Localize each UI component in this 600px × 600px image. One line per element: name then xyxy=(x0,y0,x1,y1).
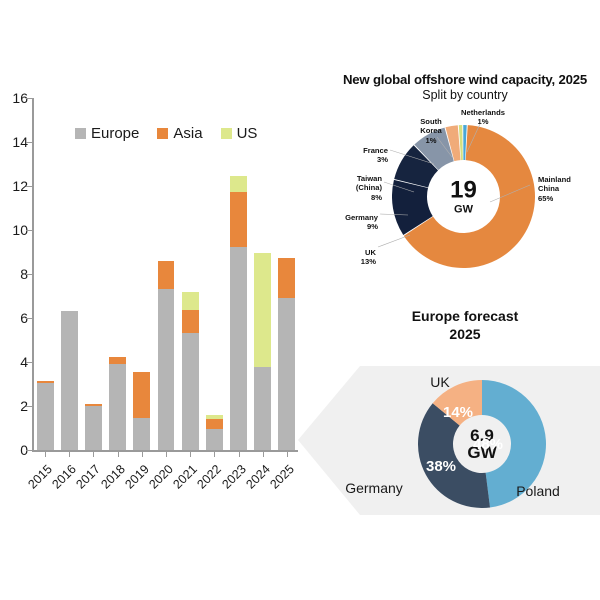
leader-line xyxy=(390,150,434,164)
bar-column-2018[interactable] xyxy=(109,357,126,450)
y-axis-tick-label: 14 xyxy=(2,134,28,150)
bar-segment-asia-2017 xyxy=(85,404,102,406)
y-axis-tick xyxy=(26,318,32,319)
europe-title-line2: 2025 xyxy=(449,326,480,342)
x-axis-tick xyxy=(214,451,215,457)
europe-label-uk: UK xyxy=(395,374,485,390)
bar-column-2024[interactable] xyxy=(254,253,271,450)
bar-column-2023[interactable] xyxy=(230,176,247,450)
slice-label-taiwan-china-: Taiwan(China)8% xyxy=(356,174,382,202)
bar-segment-asia-2021 xyxy=(182,310,199,333)
x-axis-line xyxy=(32,450,298,452)
bar-column-2017[interactable] xyxy=(85,404,102,450)
bar-segment-us-2023 xyxy=(230,176,247,191)
leader-line xyxy=(490,185,530,202)
global-split-donut-chart: New global offshore wind capacity, 2025 … xyxy=(330,72,600,307)
bar-column-2025[interactable] xyxy=(278,258,295,451)
bar-column-2016[interactable] xyxy=(61,311,78,450)
bar-segment-europe-2023 xyxy=(230,247,247,451)
bar-segment-asia-2019 xyxy=(133,372,150,418)
x-axis-tick xyxy=(239,451,240,457)
europe-forecast-chart: Europe forecast 2025 6.9 GW 48%Poland38%… xyxy=(330,308,600,538)
bar-segment-europe-2021 xyxy=(182,333,199,450)
bar-segment-asia-2018 xyxy=(109,357,126,364)
y-axis-tick-label: 4 xyxy=(2,354,28,370)
bar-segment-asia-2022 xyxy=(206,419,223,429)
bar-plot-area xyxy=(33,98,299,450)
leader-line xyxy=(380,214,408,215)
europe-label-germany: Germany xyxy=(329,480,419,496)
stacked-bar-chart: EuropeAsiaUS 0246810121416 2015201620172… xyxy=(0,90,330,530)
bar-segment-europe-2015 xyxy=(37,383,54,450)
x-axis-tick xyxy=(287,451,288,457)
bar-segment-us-2024 xyxy=(254,253,271,367)
y-axis-tick-label: 0 xyxy=(2,442,28,458)
bar-segment-europe-2024 xyxy=(254,367,271,450)
slice-label-netherlands: Netherlands1% xyxy=(441,108,525,127)
europe-pct-poland: 48% xyxy=(466,436,510,453)
bar-column-2020[interactable] xyxy=(158,261,175,450)
europe-pct-germany: 38% xyxy=(419,458,463,475)
y-axis-tick xyxy=(26,142,32,143)
x-axis-tick xyxy=(69,451,70,457)
bar-segment-europe-2020 xyxy=(158,289,175,450)
leader-line xyxy=(378,235,410,247)
infographic-root: EuropeAsiaUS 0246810121416 2015201620172… xyxy=(0,0,600,600)
y-axis-tick xyxy=(26,450,32,451)
y-axis-tick xyxy=(26,98,32,99)
y-axis-tick-label: 16 xyxy=(2,90,28,106)
x-axis-tick xyxy=(142,451,143,457)
bar-segment-asia-2020 xyxy=(158,261,175,289)
bar-segment-europe-2025 xyxy=(278,298,295,450)
bar-segment-europe-2016 xyxy=(61,311,78,450)
bar-segment-europe-2017 xyxy=(85,406,102,450)
slice-label-france: France3% xyxy=(363,146,388,165)
bar-column-2022[interactable] xyxy=(206,415,223,450)
europe-pct-uk: 14% xyxy=(436,404,480,421)
europe-label-poland: Poland xyxy=(493,483,583,499)
y-axis-tick xyxy=(26,186,32,187)
europe-forecast-title: Europe forecast 2025 xyxy=(330,308,600,343)
y-axis-tick xyxy=(26,406,32,407)
y-axis-tick-label: 12 xyxy=(2,178,28,194)
bar-segment-europe-2019 xyxy=(133,418,150,450)
x-axis-tick xyxy=(118,451,119,457)
bar-column-2015[interactable] xyxy=(37,381,54,450)
x-axis-tick xyxy=(190,451,191,457)
bar-segment-asia-2015 xyxy=(37,381,54,383)
bar-segment-europe-2018 xyxy=(109,364,126,450)
bar-segment-us-2021 xyxy=(182,292,199,310)
leader-line xyxy=(384,182,414,192)
slice-label-uk: UK13% xyxy=(361,248,376,267)
y-axis-tick xyxy=(26,362,32,363)
x-axis-tick xyxy=(166,451,167,457)
y-axis-tick-label: 2 xyxy=(2,398,28,414)
slice-label-germany: Germany9% xyxy=(345,213,378,232)
y-axis-tick-label: 6 xyxy=(2,310,28,326)
bar-segment-asia-2023 xyxy=(230,192,247,247)
bar-column-2019[interactable] xyxy=(133,372,150,450)
y-axis-tick xyxy=(26,274,32,275)
bar-column-2021[interactable] xyxy=(182,292,199,450)
slice-label-mainland-china: MainlandChina65% xyxy=(538,175,571,203)
y-axis-tick-label: 10 xyxy=(2,222,28,238)
y-axis-tick-label: 8 xyxy=(2,266,28,282)
x-axis-tick xyxy=(45,451,46,457)
bar-segment-europe-2022 xyxy=(206,429,223,450)
europe-title-line1: Europe forecast xyxy=(412,308,519,324)
bar-segment-us-2022 xyxy=(206,415,223,419)
x-axis-tick xyxy=(263,451,264,457)
y-axis-tick xyxy=(26,230,32,231)
bar-segment-asia-2025 xyxy=(278,258,295,298)
x-axis-tick xyxy=(93,451,94,457)
